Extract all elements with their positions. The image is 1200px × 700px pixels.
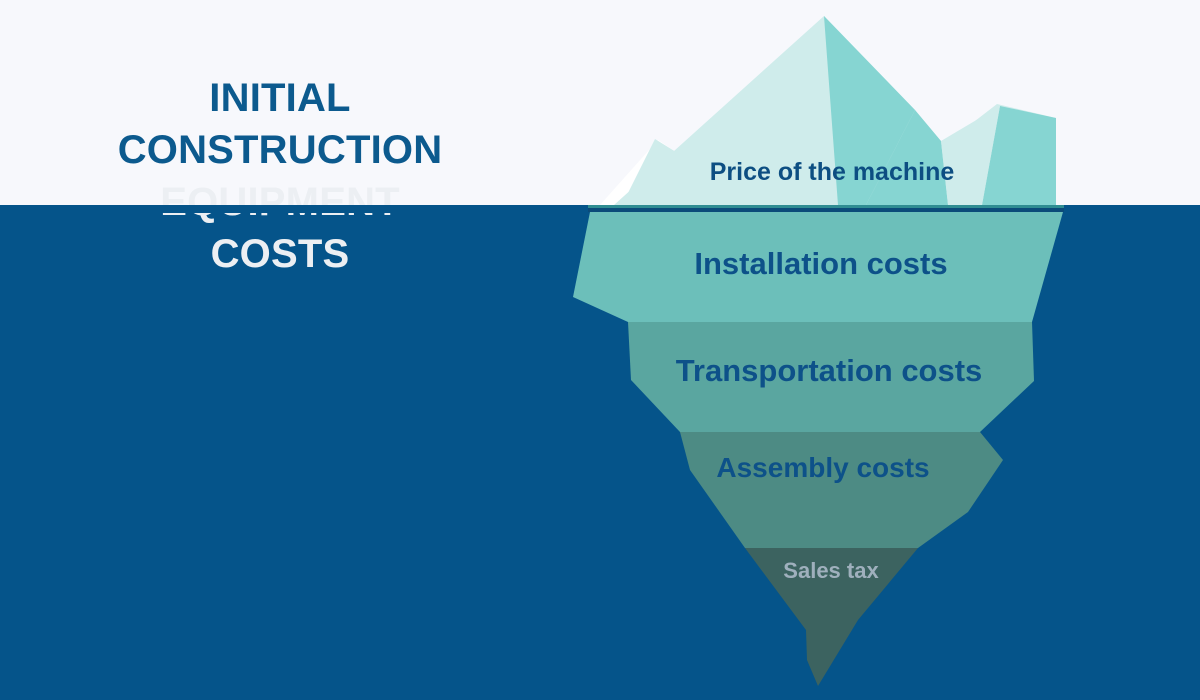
iceberg-graphic: [0, 0, 1200, 700]
waterline-shadow: [588, 208, 1064, 212]
tier-assembly-shape: [680, 432, 1003, 548]
tier-transportation-shape: [628, 322, 1034, 432]
tier-installation-shape: [573, 212, 1063, 322]
tier-salestax-shape: [745, 548, 918, 686]
infographic-canvas: INITIAL CONSTRUCTION EQUIPMENT COSTS: [0, 0, 1200, 700]
waterline-rule: [588, 205, 1064, 208]
